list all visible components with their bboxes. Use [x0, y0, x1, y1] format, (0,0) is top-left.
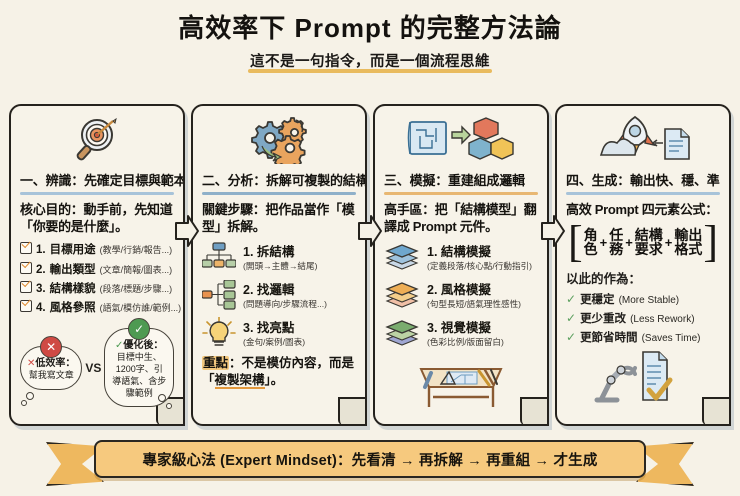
item-main: 3. 視覺模擬	[427, 321, 491, 335]
step-2-lead: 關鍵步驟：把作品當作「模型」拆解。	[202, 201, 356, 235]
formula-term-structure: 結構 要求	[635, 228, 663, 257]
item-text: 3. 視覺模擬 (色彩比例/版面留白)	[427, 319, 504, 347]
green-layer-icon	[384, 317, 420, 349]
item-main: 2. 風格模擬	[427, 283, 491, 297]
item-sub: (問題導向/步驟流程...)	[243, 299, 327, 309]
steps-board: 一、辨識：先確定目標與範本 核心目的：動手前，先知道「你要的是什麼」。 1. 目…	[6, 104, 734, 426]
list-item[interactable]: 2. 輸出類型 (文章/簡報/圖表...)	[20, 261, 174, 277]
checkbox-icon[interactable]	[20, 300, 32, 312]
checkbox-icon[interactable]	[20, 242, 32, 254]
vs-label: VS	[84, 361, 102, 375]
list-item[interactable]: 3. 找亮點 (金句/案例/圖表)	[202, 317, 356, 349]
bracket-close: ]	[703, 224, 718, 260]
term-top: 任	[609, 228, 623, 243]
thought-dot	[26, 392, 34, 400]
step-2-items: 1. 拆結構 (開頭→主體→結尾) 2. 找邏輯 (問題導向/步驟	[202, 241, 356, 349]
org-tree-icon	[202, 241, 236, 273]
robot-arm-checklist-icon	[566, 348, 720, 404]
step-1-checklist: 1. 目標用途 (教學/行銷/報告...) 2. 輸出類型 (文章/簡報/圖表.…	[20, 241, 174, 316]
formula-term-task: 任 務	[609, 228, 623, 257]
plus-sign: +	[624, 235, 634, 250]
list-item[interactable]: 3. 視覺模擬 (色彩比例/版面留白)	[384, 317, 538, 349]
checkbox-icon[interactable]	[20, 281, 32, 293]
item-sub: (開頭→主體→結尾)	[243, 261, 317, 271]
item-main: 3. 找亮點	[243, 321, 294, 335]
item-sub: (金句/案例/圖表)	[243, 337, 305, 347]
checklist-num: 2.	[36, 263, 46, 277]
step-1-lead: 核心目的：動手前，先知道「你要的是什麼」。	[20, 201, 174, 235]
checklist-num: 1.	[36, 243, 46, 257]
thought-dot	[166, 403, 172, 409]
step-card-3[interactable]: 三、模擬：重建組成邏輯 高手區：把「結構模型」翻譯成 Prompt 元件。 1.…	[373, 104, 549, 426]
item-sub: (句型長短/語氣理性感性)	[427, 299, 521, 309]
good-title-text: 優化後：	[123, 340, 163, 351]
checklist-sub: (文章/簡報/圖表...)	[100, 265, 173, 276]
term-bottom: 格式	[674, 242, 702, 257]
thought-dot	[158, 394, 166, 402]
term-top: 輸出	[674, 228, 702, 243]
checklist-num: 3.	[36, 282, 46, 296]
list-item[interactable]: 1. 拆結構 (開頭→主體→結尾)	[202, 241, 356, 273]
drafting-table-icon	[384, 353, 538, 409]
step-1-heading: 一、辨識：先確定目標與範本	[20, 170, 174, 189]
list-item[interactable]: 1. 結構模擬 (定義段落/核心點/行動指引)	[384, 241, 538, 273]
formula-term-output: 輸出 格式	[674, 228, 702, 257]
blueprint-blocks-icon	[384, 112, 538, 168]
plus-sign: +	[664, 235, 674, 250]
ribbon-center: 專家級心法 (Expert Mindset)：先看清 → 再拆解 → 再重組 →…	[94, 440, 646, 478]
step-1-rule	[20, 192, 174, 195]
page-corner-fold	[702, 397, 730, 425]
list-item[interactable]: ✓ 更節省時間 (Saves Time)	[566, 329, 720, 345]
lightbulb-icon	[202, 317, 236, 349]
bracket-open: [	[568, 224, 583, 260]
bad-example-body: 幫我寫文章	[27, 370, 75, 382]
connector-arrow-1-2	[174, 214, 200, 248]
checklist-sub: (語氣/模仿誰/範例...)	[100, 303, 182, 314]
page-header: 高效率下 Prompt 的完整方法論 這不是一句指令，而是一個流程思維	[0, 0, 740, 71]
benefits-lead: 以此的作為：	[566, 268, 720, 287]
comparison-bubbles: ✕ ✕低效率： 幫我寫文章 VS ✓ ✓優化後： 目標中生、1200字、引導語氣…	[20, 322, 174, 414]
checklist-main: 目標用途	[50, 243, 96, 257]
term-bottom: 要求	[635, 242, 663, 257]
term-bottom: 色	[584, 242, 598, 257]
list-item[interactable]: 2. 找邏輯 (問題導向/步驟流程...)	[202, 279, 356, 311]
cross-badge-icon: ✕	[40, 336, 62, 358]
term-top: 角	[584, 228, 598, 243]
connector-arrow-3-4	[540, 214, 566, 248]
bad-example-bubble: ✕ ✕低效率： 幫我寫文章	[20, 346, 82, 390]
step-2-rule	[202, 192, 356, 195]
keynote-post: 」。	[265, 373, 284, 387]
check-icon: ✓	[566, 292, 576, 306]
ribbon-text: 專家級心法 (Expert Mindset)：先看清 → 再拆解 → 再重組 →…	[142, 449, 597, 470]
thought-dot	[21, 400, 27, 406]
connector-arrow-2-3	[357, 214, 383, 248]
page-title: 高效率下 Prompt 的完整方法論	[0, 14, 740, 44]
benefit-en: (More Stable)	[619, 295, 680, 306]
step-4-lead: 高效 Prompt 四元素公式：	[566, 201, 720, 218]
rocket-document-icon	[566, 112, 720, 168]
list-item[interactable]: 3. 結構樣貌 (段落/標題/步驟...)	[20, 280, 174, 296]
item-main: 1. 結構模擬	[427, 245, 491, 259]
step-3-rule	[384, 192, 538, 195]
list-item[interactable]: 2. 風格模擬 (句型長短/語氣理性感性)	[384, 279, 538, 311]
page-corner-fold	[338, 397, 366, 425]
checklist-sub: (段落/標題/步驟...)	[100, 284, 173, 295]
benefit-zh: 更穩定	[580, 291, 615, 307]
bad-title-text: 低效率：	[35, 358, 75, 369]
keynote-underline: 複製架構	[215, 373, 265, 389]
checkbox-icon[interactable]	[20, 262, 32, 274]
good-example-body: 目標中生、1200字、引導語氣、含步驟範例	[111, 352, 167, 399]
prompt-formula: [ 角 色 + 任 務 + 結構 要求 + 輸出 格式 ]	[566, 224, 720, 260]
checklist-sub: (教學/行銷/報告...)	[100, 245, 173, 256]
step-3-lead: 高手區：把「結構模型」翻譯成 Prompt 元件。	[384, 201, 538, 235]
list-item[interactable]: 1. 目標用途 (教學/行銷/報告...)	[20, 241, 174, 257]
plus-sign: +	[599, 235, 609, 250]
benefit-zh: 更少重改	[580, 310, 626, 326]
item-text: 1. 拆結構 (開頭→主體→結尾)	[243, 243, 317, 271]
item-sub: (定義段落/核心點/行動指引)	[427, 261, 532, 271]
step-4-heading: 四、生成：輸出快、穩、準	[566, 170, 720, 189]
footer-ribbon: 專家級心法 (Expert Mindset)：先看清 → 再拆解 → 再重組 →…	[46, 436, 694, 482]
item-text: 2. 風格模擬 (句型長短/語氣理性感性)	[427, 281, 521, 309]
step-2-keynote: 重點：不是模仿內容，而是「複製架構」。	[202, 355, 356, 389]
page-corner-fold	[520, 397, 548, 425]
check-icon: ✓	[566, 330, 576, 344]
term-bottom: 務	[609, 242, 623, 257]
step-card-1[interactable]: 一、辨識：先確定目標與範本 核心目的：動手前，先知道「你要的是什麼」。 1. 目…	[9, 104, 185, 426]
list-item[interactable]: ✓ 更穩定 (More Stable)	[566, 291, 720, 307]
checklist-main: 結構樣貌	[50, 282, 96, 296]
list-item[interactable]: 4. 風格參照 (語氣/模仿誰/範例...)	[20, 299, 174, 315]
blue-layer-icon	[384, 241, 420, 273]
item-text: 2. 找邏輯 (問題導向/步驟流程...)	[243, 281, 327, 309]
benefit-en: (Saves Time)	[642, 333, 701, 344]
step-4-rule	[566, 192, 720, 195]
benefit-en: (Less Rework)	[630, 314, 694, 325]
item-main: 1. 拆結構	[243, 245, 294, 259]
item-text: 3. 找亮點 (金句/案例/圖表)	[243, 319, 305, 347]
step-3-items: 1. 結構模擬 (定義段落/核心點/行動指引) 2. 風格模擬 (句型長短/語氣…	[384, 241, 538, 349]
target-magnifier-icon	[20, 112, 174, 168]
step-card-4[interactable]: 四、生成：輸出快、穩、準 高效 Prompt 四元素公式： [ 角 色 + 任 …	[555, 104, 731, 426]
item-main: 2. 找邏輯	[243, 283, 294, 297]
checklist-main: 風格參照	[50, 301, 96, 315]
check-icon: ✓	[566, 311, 576, 325]
page-subtitle-wrap: 這不是一句指令，而是一個流程思維	[246, 50, 494, 71]
term-top: 結構	[635, 228, 663, 243]
step-card-2[interactable]: 二、分析：拆解可複製的結構 關鍵步驟：把作品當作「模型」拆解。 1. 拆結構 (…	[191, 104, 367, 426]
page-subtitle: 這不是一句指令，而是一個流程思維	[246, 50, 494, 71]
item-text: 1. 結構模擬 (定義段落/核心點/行動指引)	[427, 243, 532, 271]
item-sub: (色彩比例/版面留白)	[427, 337, 504, 347]
benefits-list: ✓ 更穩定 (More Stable) ✓ 更少重改 (Less Rework)…	[566, 291, 720, 345]
formula-term-role: 角 色	[584, 228, 598, 257]
gears-icon	[202, 112, 356, 168]
benefit-zh: 更節省時間	[580, 329, 638, 345]
list-item[interactable]: ✓ 更少重改 (Less Rework)	[566, 310, 720, 326]
orange-layer-icon	[384, 279, 420, 311]
checklist-main: 輸出類型	[50, 263, 96, 277]
checklist-num: 4.	[36, 301, 46, 315]
step-2-heading: 二、分析：拆解可複製的結構	[202, 170, 356, 189]
keynote-highlight: 重點	[202, 356, 229, 370]
check-badge-icon: ✓	[128, 318, 150, 340]
flow-branch-icon	[202, 279, 236, 311]
step-3-heading: 三、模擬：重建組成邏輯	[384, 170, 538, 189]
